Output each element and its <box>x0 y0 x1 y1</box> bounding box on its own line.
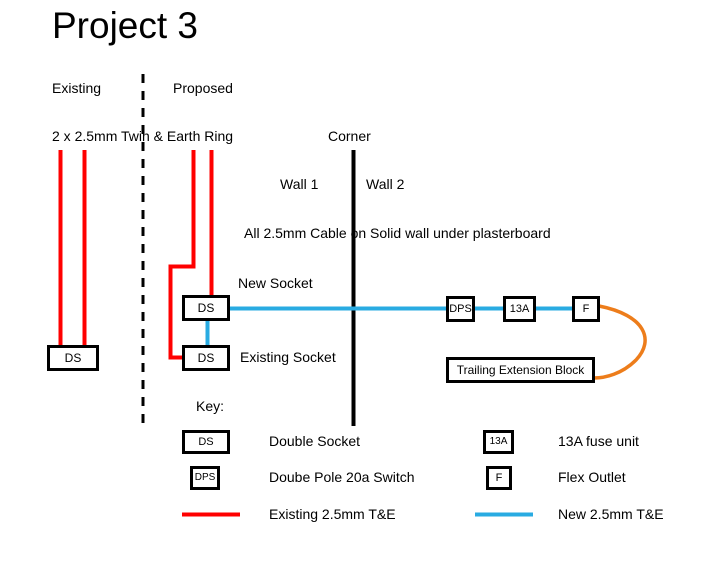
device-flex-outlet[interactable]: F <box>572 296 600 322</box>
label-proposed: Proposed <box>173 81 233 95</box>
key-label-double-pole-switch: Doube Pole 20a Switch <box>269 470 415 484</box>
device-trailing-extension-block[interactable]: Trailing Extension Block <box>446 357 595 383</box>
device-label: Trailing Extension Block <box>457 364 585 376</box>
label-cable-note: All 2.5mm Cable on Solid wall under plas… <box>244 226 551 240</box>
flex-lead-curve <box>594 306 645 378</box>
label-corner: Corner <box>328 129 371 143</box>
key-heading: Key: <box>196 399 224 413</box>
key-symbol-fuse-unit: 13A <box>483 430 514 454</box>
key-symbol-label: DPS <box>195 473 216 483</box>
key-symbol-label: 13A <box>490 437 508 447</box>
key-symbol-label: DS <box>198 437 213 448</box>
label-ring-note: 2 x 2.5mm Twin & Earth Ring <box>52 129 233 143</box>
key-symbol-flex-outlet: F <box>486 466 512 490</box>
device-existing-double-socket[interactable]: DS <box>47 345 99 371</box>
page-title: Project 3 <box>52 7 198 44</box>
device-proposed-existing-socket[interactable]: DS <box>182 345 230 371</box>
device-label: DS <box>65 352 82 364</box>
key-symbol-double-socket: DS <box>182 430 230 454</box>
label-wall-1: Wall 1 <box>280 177 318 191</box>
label-new-socket: New Socket <box>238 276 313 290</box>
device-fuse-unit[interactable]: 13A <box>503 296 536 322</box>
device-label: DPS <box>449 304 472 315</box>
device-new-double-socket[interactable]: DS <box>182 295 230 321</box>
key-label-flex-outlet: Flex Outlet <box>558 470 626 484</box>
key-label-existing-cable: Existing 2.5mm T&E <box>269 507 396 521</box>
label-existing: Existing <box>52 81 101 95</box>
device-label: DS <box>198 302 215 314</box>
key-label-double-socket: Double Socket <box>269 434 360 448</box>
label-existing-socket: Existing Socket <box>240 350 336 364</box>
device-double-pole-switch[interactable]: DPS <box>446 296 475 322</box>
proposed-ring-cable-left-route <box>171 150 194 358</box>
device-label: F <box>583 304 590 315</box>
key-label-fuse-unit: 13A fuse unit <box>558 434 639 448</box>
key-label-new-cable: New 2.5mm T&E <box>558 507 664 521</box>
device-label: 13A <box>510 304 530 315</box>
key-symbol-label: F <box>496 473 503 484</box>
key-symbol-double-pole-switch: DPS <box>190 466 220 490</box>
label-wall-2: Wall 2 <box>366 177 404 191</box>
device-label: DS <box>198 352 215 364</box>
